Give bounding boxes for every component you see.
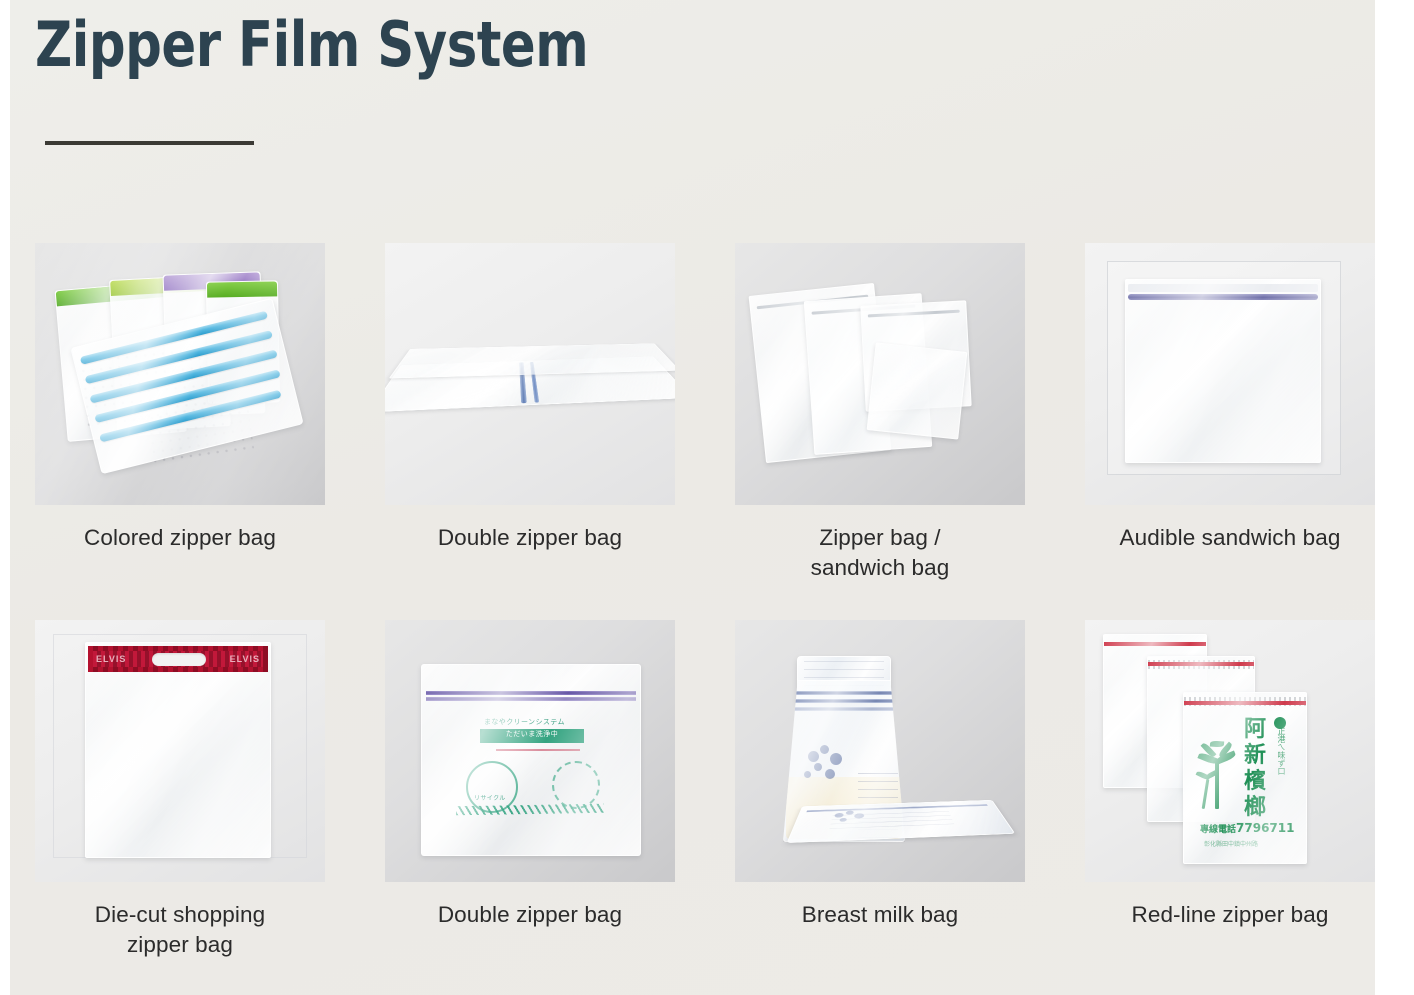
product-card-double-zipper-bag-printed[interactable]: まなやクリーンシステム ただいま洗浄中 リサイクル Double zipper … (385, 620, 675, 930)
palm-tree-graphic (1196, 739, 1240, 811)
product-caption: Die-cut shopping zipper bag (35, 900, 325, 959)
print-char-4: 榔 (1244, 797, 1266, 819)
red-zipper-line (1148, 662, 1254, 666)
product-card-zipper-sandwich-bag[interactable]: Zipper bag / sandwich bag (735, 243, 1025, 582)
product-card-audible-sandwich-bag[interactable]: Audible sandwich bag (1085, 243, 1375, 553)
product-image-red-line-zipper-bag: 阿 新 檳 榔 正港ㄟ味ず口 專線電話7796711 彰化縣田中鎮中州路 (1085, 620, 1375, 882)
caption-line-1: Double zipper bag (438, 525, 622, 550)
page-title: Zipper Film System (35, 12, 588, 77)
page-root: Zipper Film System (10, 0, 1375, 995)
caption-line-1: Red-line zipper bag (1131, 902, 1328, 927)
product-card-die-cut-shopping-zipper-bag[interactable]: ELVIS ELVIS Die-cut shopping zipper bag (35, 620, 325, 959)
product-image-double-zipper-bag-printed: まなやクリーンシステム ただいま洗浄中 リサイクル (385, 620, 675, 882)
product-image-breast-milk-bag (735, 620, 1025, 882)
print-hatch-band (456, 804, 604, 816)
caption-line-1: Double zipper bag (438, 902, 622, 927)
product-grid-row-2: ELVIS ELVIS Die-cut shopping zipper bag (10, 620, 1375, 740)
print-text-mid: リサイクル (474, 793, 506, 802)
zipper-line-purple (426, 697, 636, 701)
die-cut-handle-slot (152, 653, 206, 666)
product-card-colored-zipper-bag[interactable]: Colored zipper bag (35, 243, 325, 553)
caption-line-1: Colored zipper bag (84, 525, 276, 550)
print-phone-number: 專線電話7796711 (1200, 821, 1294, 835)
product-caption: Breast milk bag (735, 900, 1025, 930)
product-card-red-line-zipper-bag[interactable]: 阿 新 檳 榔 正港ㄟ味ず口 專線電話7796711 彰化縣田中鎮中州路 (1085, 620, 1375, 930)
red-zipper-line (1184, 701, 1306, 705)
print-char-2: 新 (1244, 745, 1266, 767)
die-cut-brand-text-right: ELVIS (230, 654, 260, 664)
zipper-line-purple (426, 691, 636, 695)
product-card-double-zipper-bag-flat[interactable]: Double zipper bag (385, 243, 675, 553)
milk-pouch-flat (787, 800, 1016, 843)
print-text-top: まなやクリーンシステム (484, 717, 565, 727)
product-card-breast-milk-bag[interactable]: Breast milk bag (735, 620, 1025, 930)
product-image-colored-zipper-bag (35, 243, 325, 505)
product-image-double-zipper-bag-flat (385, 243, 675, 505)
caption-line-1: Die-cut shopping (95, 902, 265, 927)
caption-line-1: Breast milk bag (802, 902, 959, 927)
print-phone-prefix: 專線電話 (1200, 825, 1236, 835)
caption-line-2: sandwich bag (735, 553, 1025, 583)
product-image-die-cut-shopping-zipper-bag: ELVIS ELVIS (35, 620, 325, 882)
die-cut-brand-text-left: ELVIS (96, 654, 126, 664)
product-caption: Double zipper bag (385, 523, 675, 553)
product-caption: Colored zipper bag (35, 523, 325, 553)
print-label-green: ただいま洗浄中 (480, 729, 584, 743)
red-zipper-line (1104, 642, 1206, 646)
product-caption: Zipper bag / sandwich bag (735, 523, 1025, 582)
product-caption: Audible sandwich bag (1085, 523, 1375, 553)
product-grid: Colored zipper bag Double zipper bag (10, 243, 1375, 363)
caption-line-2: zipper bag (35, 930, 325, 960)
title-underline-rule (45, 141, 254, 145)
product-image-zipper-sandwich-bag (735, 243, 1025, 505)
product-grid-row-1: Colored zipper bag Double zipper bag (10, 243, 1375, 363)
die-cut-header-band: ELVIS ELVIS (88, 646, 268, 672)
product-caption: Red-line zipper bag (1085, 900, 1375, 930)
print-char-1: 阿 (1244, 719, 1266, 741)
caption-line-1: Audible sandwich bag (1120, 525, 1341, 550)
caption-line-1: Zipper bag / (819, 525, 940, 550)
product-caption: Double zipper bag (385, 900, 675, 930)
product-image-audible-sandwich-bag (1085, 243, 1375, 505)
print-char-3: 檳 (1244, 771, 1266, 793)
